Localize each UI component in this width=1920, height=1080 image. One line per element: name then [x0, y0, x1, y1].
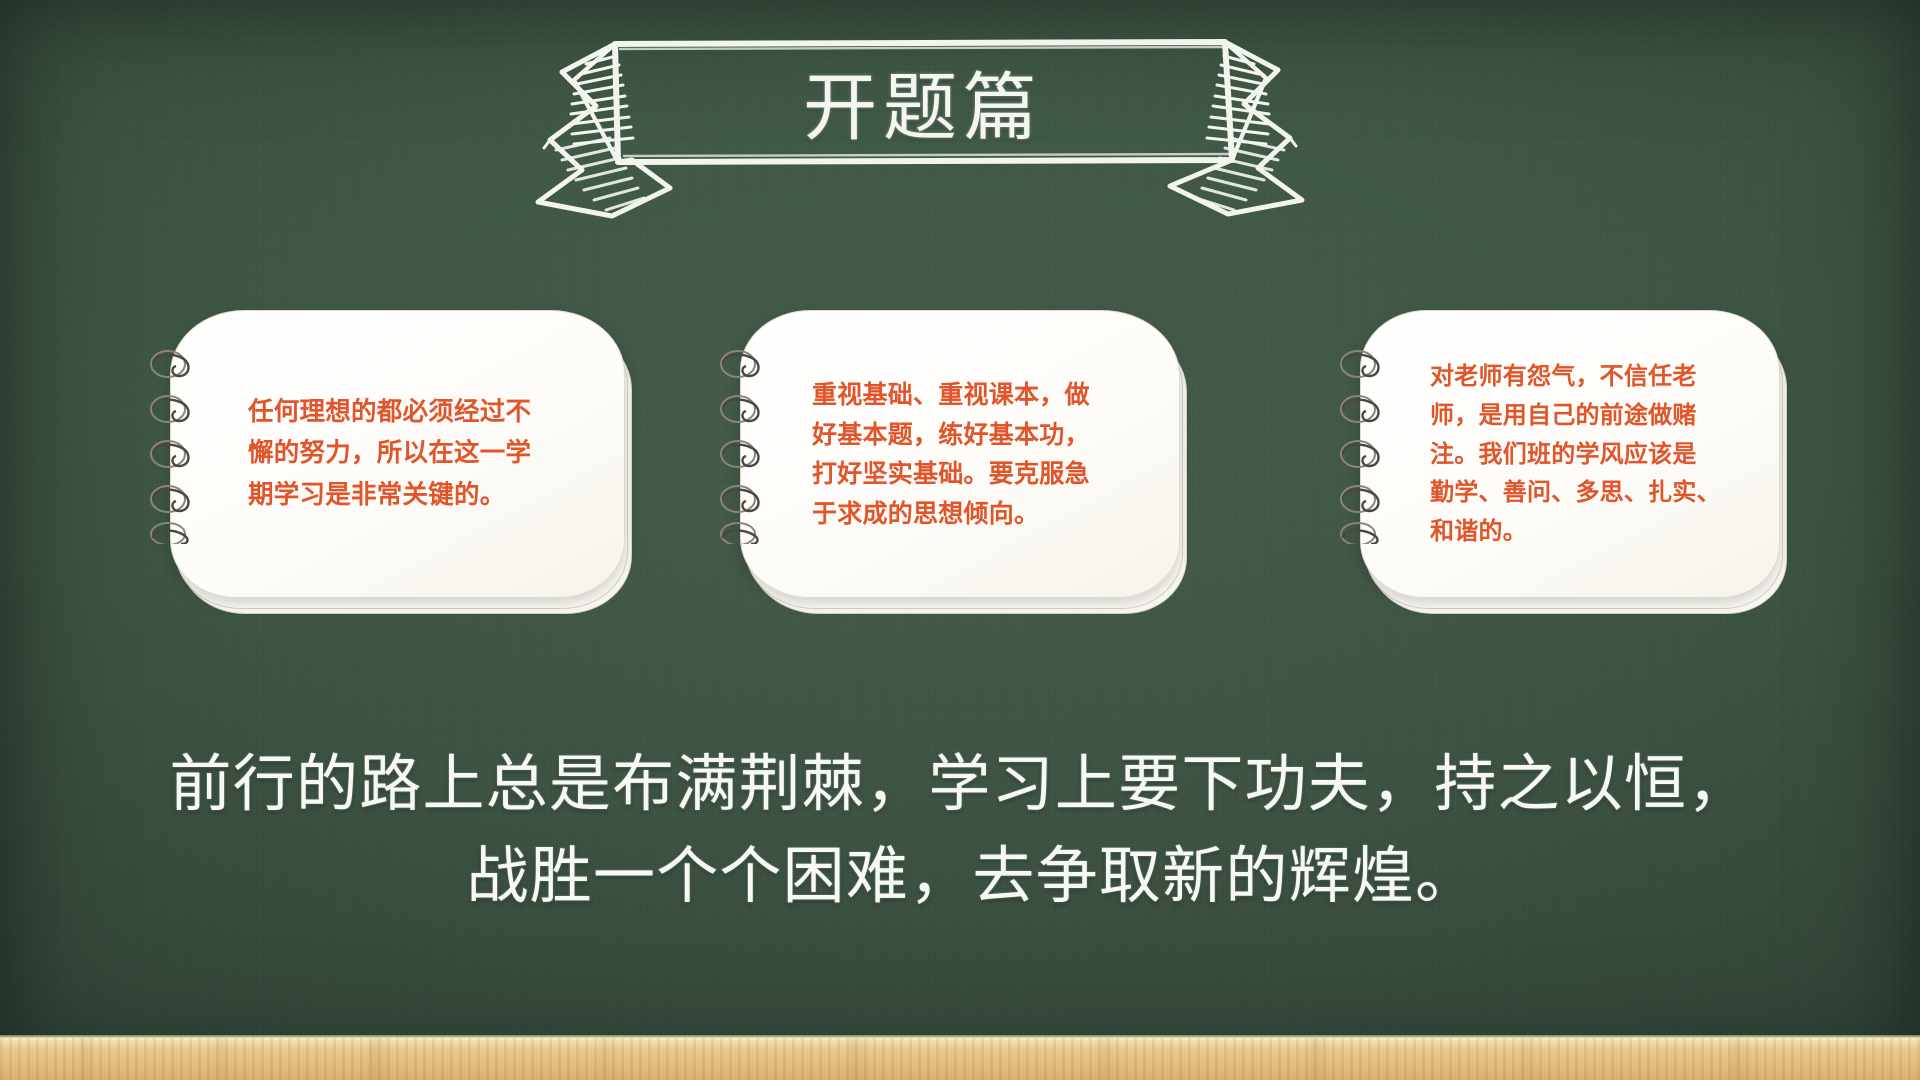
quote-line-1: 前行的路上总是布满荆棘，学习上要下功夫，持之以恒，: [0, 740, 1920, 832]
note-card-row: 任何理想的都必须经过不 懈的努力，所以在这一学 期学习是非常关键的。: [0, 310, 1920, 650]
card-1-line-3: 期学习是非常关键的。: [248, 475, 591, 516]
card-2-line-3: 打好坚实基础。要克服急: [812, 454, 1150, 494]
wood-grain-texture: [0, 1038, 1920, 1080]
card-3-line-4: 勤学、善问、多思、扎实、: [1430, 473, 1754, 512]
card-2-line-1: 重视基础、重视课本，做: [812, 375, 1150, 415]
card-1-line-2: 懈的努力，所以在这一学: [248, 433, 591, 474]
chalk-ribbon-banner: 开题篇: [520, 20, 1320, 235]
card-3-line-1: 对老师有怨气，不信任老: [1430, 357, 1754, 396]
note-card-1-text: 任何理想的都必须经过不 懈的努力，所以在这一学 期学习是非常关键的。: [170, 310, 625, 598]
note-card-3-text: 对老师有怨气，不信任老 师，是用自己的前途做赌 注。我们班的学风应该是 勤学、善…: [1360, 310, 1780, 598]
card-3-line-5: 和谐的。: [1430, 512, 1754, 551]
note-card-2-text: 重视基础、重视课本，做 好基本题，练好基本功， 打好坚实基础。要克服急 于求成的…: [740, 310, 1180, 598]
card-2-line-2: 好基本题，练好基本功，: [812, 415, 1150, 455]
card-2-line-4: 于求成的思想倾向。: [812, 494, 1150, 534]
bottom-quote: 前行的路上总是布满荆棘，学习上要下功夫，持之以恒， 战胜一个个困难，去争取新的辉…: [0, 740, 1920, 924]
banner-title: 开题篇: [520, 72, 1320, 146]
card-3-line-2: 师，是用自己的前途做赌: [1430, 396, 1754, 435]
quote-line-2: 战胜一个个困难，去争取新的辉煌。: [0, 832, 1920, 924]
chalk-tray-ledge: [0, 1038, 1920, 1080]
card-1-line-1: 任何理想的都必须经过不: [248, 392, 591, 433]
card-3-line-3: 注。我们班的学风应该是: [1430, 435, 1754, 474]
